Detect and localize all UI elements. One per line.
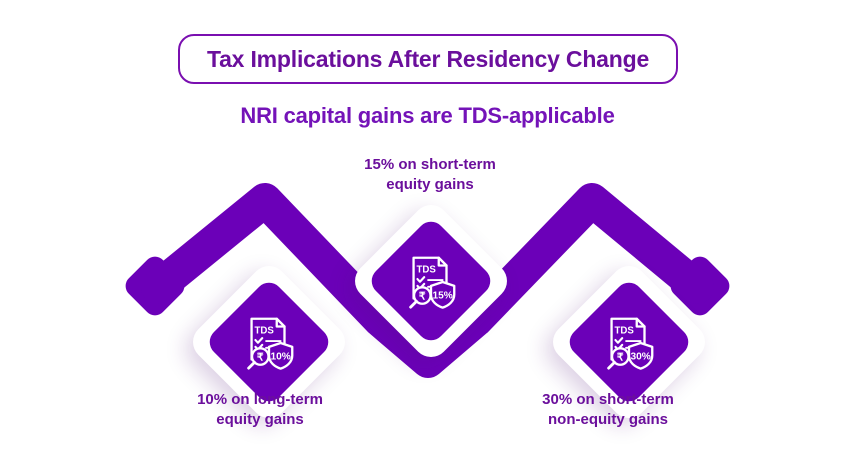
- infographic-canvas: Tax Implications After Residency Change …: [0, 0, 855, 452]
- step-caption-long-term-equity: 10% on long-term equity gains: [130, 390, 390, 431]
- tds-document-shield-icon: TDS ₹ 15%: [400, 250, 462, 312]
- badge-rate-label: 10%: [270, 351, 290, 362]
- zigzag-left-cap: [121, 252, 189, 320]
- shield-badge-icon: 30%: [629, 343, 652, 369]
- document-label: TDS: [416, 264, 436, 275]
- step-card-inner: TDS ₹ 30%: [564, 277, 694, 407]
- shield-badge-icon: 10%: [269, 343, 292, 369]
- caption-line-1: 30% on short-term: [478, 390, 738, 410]
- svg-text:₹: ₹: [257, 351, 264, 363]
- step-card-inner: TDS ₹ 15%: [366, 216, 496, 346]
- page-subtitle: NRI capital gains are TDS-applicable: [0, 103, 855, 129]
- badge-rate-label: 30%: [630, 351, 650, 362]
- badge-rate-label: 15%: [432, 290, 452, 301]
- step-caption-short-term-non-equity: 30% on short-term non-equity gains: [478, 390, 738, 431]
- caption-line-2: non-equity gains: [478, 410, 738, 430]
- caption-line-1: 10% on long-term: [130, 390, 390, 410]
- caption-line-1: 15% on short-term: [300, 155, 560, 175]
- tds-document-shield-icon: TDS ₹ 10%: [238, 311, 300, 373]
- step-caption-short-term-equity: 15% on short-term equity gains: [300, 155, 560, 196]
- shield-badge-icon: 15%: [431, 282, 454, 308]
- tds-document-shield-icon: TDS ₹ 30%: [598, 311, 660, 373]
- svg-text:₹: ₹: [617, 351, 624, 363]
- step-card-inner: TDS ₹ 10%: [204, 277, 334, 407]
- document-label: TDS: [254, 325, 274, 336]
- caption-line-2: equity gains: [300, 175, 560, 195]
- page-title-box: Tax Implications After Residency Change: [178, 34, 678, 84]
- step-card-short-term-equity[interactable]: TDS ₹ 15%: [348, 198, 515, 365]
- caption-line-2: equity gains: [130, 410, 390, 430]
- document-label: TDS: [614, 325, 634, 336]
- page-title: Tax Implications After Residency Change: [207, 46, 649, 73]
- svg-text:₹: ₹: [419, 290, 426, 302]
